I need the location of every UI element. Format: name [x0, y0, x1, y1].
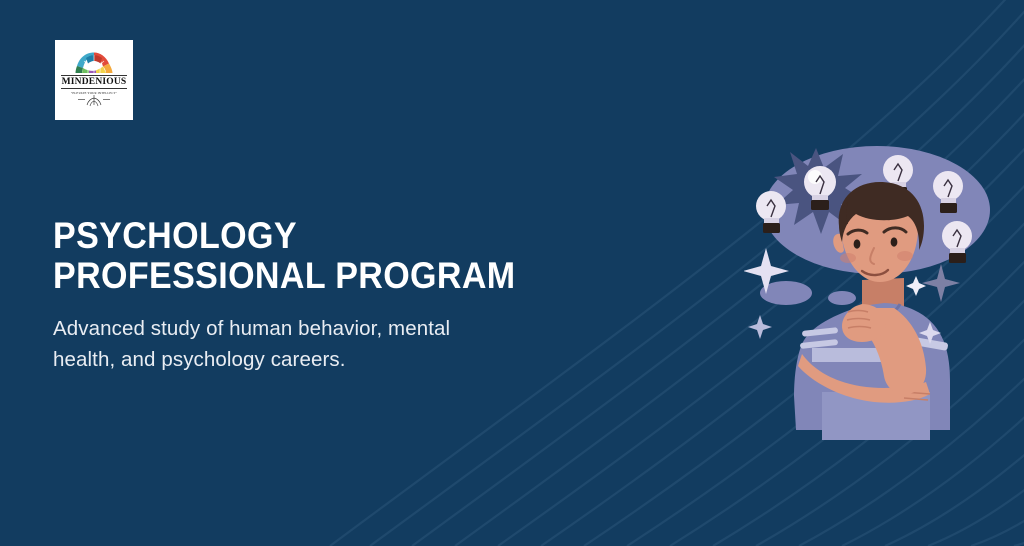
brand-logo[interactable]: MINDENIOUS "ELEVATE YOUR INTELLECT": [55, 40, 133, 120]
eye-right: [891, 237, 898, 246]
eye-left: [854, 239, 861, 248]
thought-cloud-small-1: [828, 291, 856, 305]
logo-wordmark: MINDENIOUS: [61, 75, 128, 89]
thinking-man-illustration: [744, 130, 1024, 440]
page-title: PSYCHOLOGY PROFESSIONAL PROGRAM: [53, 216, 623, 296]
rainbow-brain-icon: [71, 51, 117, 74]
sparkle-icon-small-right: [906, 276, 926, 296]
logo-roots-icon: [77, 95, 111, 109]
cheek-right: [897, 251, 913, 261]
sparkle-icon-large-right: [922, 264, 960, 302]
cheek-left: [840, 253, 856, 263]
page-subtitle: Advanced study of human behavior, mental…: [53, 313, 673, 375]
psychology-program-banner: MINDENIOUS "ELEVATE YOUR INTELLECT" PSYC…: [0, 0, 1024, 546]
hero-copy: PSYCHOLOGY PROFESSIONAL PROGRAM Advanced…: [53, 216, 673, 375]
sparkle-icon-small-left: [748, 315, 772, 339]
